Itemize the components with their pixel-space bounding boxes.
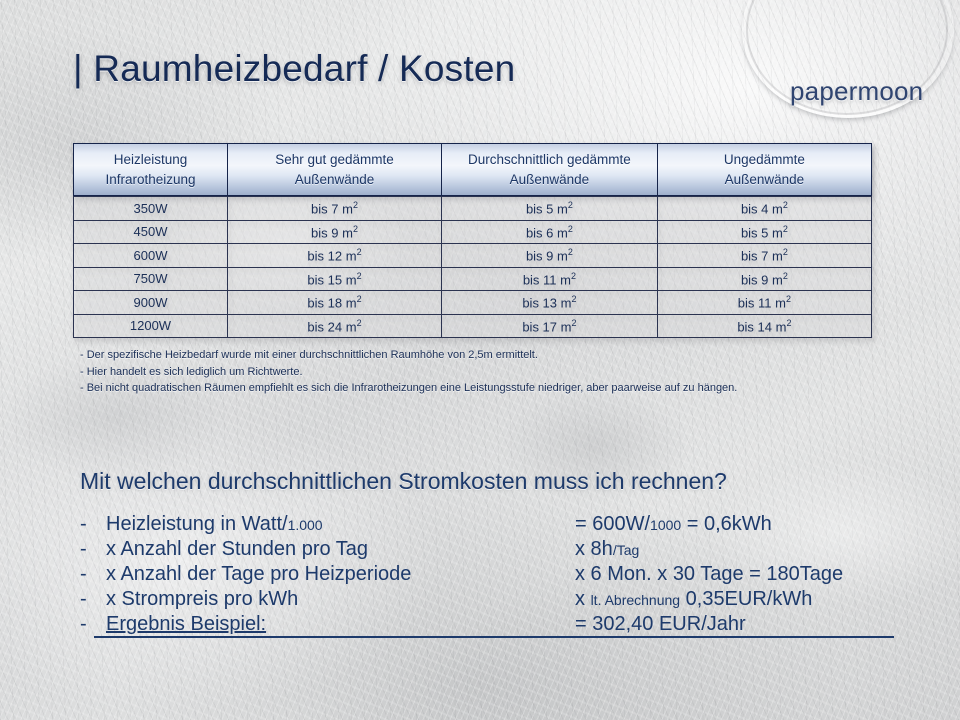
square-meter-exponent: 2 xyxy=(568,224,573,234)
square-meter-exponent: 2 xyxy=(786,294,791,304)
square-meter-exponent: 2 xyxy=(783,247,788,257)
calculation-right-subscript: 1000 xyxy=(650,517,681,533)
heating-requirement-table: Heizleistung Infrarotheizung Sehr gut ge… xyxy=(73,143,872,338)
cell-power: 350W xyxy=(73,196,227,221)
cost-calculation-block: -Heizleistung in Watt/1.000= 600W/1000 =… xyxy=(80,512,890,637)
calculation-row: -x Anzahl der Stunden pro Tagx 8h/Tag xyxy=(80,537,890,562)
square-meter-exponent: 2 xyxy=(357,294,362,304)
square-meter-exponent: 2 xyxy=(786,318,791,328)
table-row: 600Wbis 12 m2bis 9 m2bis 7 m2 xyxy=(73,244,872,268)
square-meter-exponent: 2 xyxy=(357,247,362,257)
cell-average-insulated: bis 5 m2 xyxy=(441,196,657,221)
table-row: 450Wbis 9 m2bis 6 m2bis 5 m2 xyxy=(73,221,872,245)
footnote-item: - Der spezifische Heizbedarf wurde mit e… xyxy=(80,347,880,364)
calculation-left-term: x Strompreis pro kWh xyxy=(106,587,298,612)
papermoon-logo: papermoon xyxy=(742,16,948,122)
square-meter-exponent: 2 xyxy=(353,200,358,210)
cell-well-insulated: bis 15 m2 xyxy=(227,268,441,292)
bullet-dash: - xyxy=(80,562,87,587)
square-meter-exponent: 2 xyxy=(783,200,788,210)
cell-average-insulated: bis 13 m2 xyxy=(441,291,657,315)
calculation-right-term: x 6 Mon. x 30 Tage = 180Tage xyxy=(575,562,843,587)
header-line-2: Außenwände xyxy=(662,170,867,190)
footnote-list: - Der spezifische Heizbedarf wurde mit e… xyxy=(80,347,880,397)
cell-average-insulated: bis 11 m2 xyxy=(441,268,657,292)
cell-power: 900W xyxy=(73,291,227,315)
square-meter-exponent: 2 xyxy=(571,294,576,304)
section-question: Mit welchen durchschnittlichen Stromkost… xyxy=(80,468,727,495)
cell-well-insulated: bis 12 m2 xyxy=(227,244,441,268)
table-header-cell-power: Heizleistung Infrarotheizung xyxy=(73,143,227,196)
table-header-row: Heizleistung Infrarotheizung Sehr gut ge… xyxy=(73,143,872,196)
cell-well-insulated: bis 9 m2 xyxy=(227,221,441,245)
table-row: 900Wbis 18 m2bis 13 m2bis 11 m2 xyxy=(73,291,872,315)
cell-well-insulated: bis 7 m2 xyxy=(227,196,441,221)
square-meter-exponent: 2 xyxy=(783,224,788,234)
page-title: | Raumheizbedarf / Kosten xyxy=(73,48,515,90)
cell-average-insulated: bis 6 m2 xyxy=(441,221,657,245)
bullet-dash: - xyxy=(80,537,87,562)
logo-wordmark: papermoon xyxy=(790,76,923,107)
cell-average-insulated: bis 17 m2 xyxy=(441,315,657,339)
cell-well-insulated: bis 24 m2 xyxy=(227,315,441,339)
calculation-right-term: x lt. Abrechnung 0,35EUR/kWh xyxy=(575,587,812,613)
bullet-dash: - xyxy=(80,612,87,637)
header-line-2: Außenwände xyxy=(446,170,653,190)
header-line-1: Sehr gut gedämmte xyxy=(232,150,437,170)
cell-uninsulated: bis 9 m2 xyxy=(657,268,872,292)
header-line-1: Ungedämmte xyxy=(662,150,867,170)
cell-uninsulated: bis 5 m2 xyxy=(657,221,872,245)
calculation-left-term: Heizleistung in Watt/1.000 xyxy=(106,512,323,538)
cell-power: 600W xyxy=(73,244,227,268)
result-underline xyxy=(94,636,894,638)
bullet-dash: - xyxy=(80,512,87,537)
header-line-2: Außenwände xyxy=(232,170,437,190)
square-meter-exponent: 2 xyxy=(783,271,788,281)
cell-power: 1200W xyxy=(73,315,227,339)
square-meter-exponent: 2 xyxy=(568,200,573,210)
calculation-left-term: x Anzahl der Tage pro Heizperiode xyxy=(106,562,411,587)
table-header-cell-average-insulated: Durchschnittlich gedämmte Außenwände xyxy=(441,143,657,196)
square-meter-exponent: 2 xyxy=(353,224,358,234)
cell-uninsulated: bis 7 m2 xyxy=(657,244,872,268)
calculation-right-subscript: lt. Abrechnung xyxy=(591,592,681,608)
calculation-left-term: x Anzahl der Stunden pro Tag xyxy=(106,537,368,562)
table-body: 350Wbis 7 m2bis 5 m2bis 4 m2450Wbis 9 m2… xyxy=(73,196,872,338)
header-line-1: Durchschnittlich gedämmte xyxy=(446,150,653,170)
header-line-2: Infrarotheizung xyxy=(78,170,223,190)
table-row: 1200Wbis 24 m2bis 17 m2bis 14 m2 xyxy=(73,315,872,339)
cell-uninsulated: bis 4 m2 xyxy=(657,196,872,221)
cell-uninsulated: bis 11 m2 xyxy=(657,291,872,315)
calculation-right-term: = 302,40 EUR/Jahr xyxy=(575,612,746,637)
table-row: 350Wbis 7 m2bis 5 m2bis 4 m2 xyxy=(73,196,872,221)
cell-average-insulated: bis 9 m2 xyxy=(441,244,657,268)
table-row: 750Wbis 15 m2bis 11 m2bis 9 m2 xyxy=(73,268,872,292)
square-meter-exponent: 2 xyxy=(571,318,576,328)
cell-well-insulated: bis 18 m2 xyxy=(227,291,441,315)
calculation-left-term: Ergebnis Beispiel: xyxy=(106,612,266,637)
bullet-dash: - xyxy=(80,587,87,612)
square-meter-exponent: 2 xyxy=(357,271,362,281)
cell-uninsulated: bis 14 m2 xyxy=(657,315,872,339)
cell-power: 450W xyxy=(73,221,227,245)
square-meter-exponent: 2 xyxy=(571,271,576,281)
square-meter-exponent: 2 xyxy=(357,318,362,328)
calculation-row: -Ergebnis Beispiel:= 302,40 EUR/Jahr xyxy=(80,612,890,637)
table-header-cell-well-insulated: Sehr gut gedämmte Außenwände xyxy=(227,143,441,196)
calculation-row: -Heizleistung in Watt/1.000= 600W/1000 =… xyxy=(80,512,890,537)
table-header-cell-uninsulated: Ungedämmte Außenwände xyxy=(657,143,872,196)
footnote-item: - Hier handelt es sich lediglich um Rich… xyxy=(80,364,880,381)
calculation-row: -x Anzahl der Tage pro Heizperiodex 6 Mo… xyxy=(80,562,890,587)
calculation-right-subscript: /Tag xyxy=(613,542,639,558)
cell-power: 750W xyxy=(73,268,227,292)
calculation-right-term: = 600W/1000 = 0,6kWh xyxy=(575,512,772,538)
calculation-right-term: x 8h/Tag xyxy=(575,537,639,563)
footnote-item: - Bei nicht quadratischen Räumen empfieh… xyxy=(80,380,880,397)
header-line-1: Heizleistung xyxy=(78,150,223,170)
calculation-row: -x Strompreis pro kWhx lt. Abrechnung 0,… xyxy=(80,587,890,612)
calculation-left-subscript: 1.000 xyxy=(288,517,323,533)
square-meter-exponent: 2 xyxy=(568,247,573,257)
